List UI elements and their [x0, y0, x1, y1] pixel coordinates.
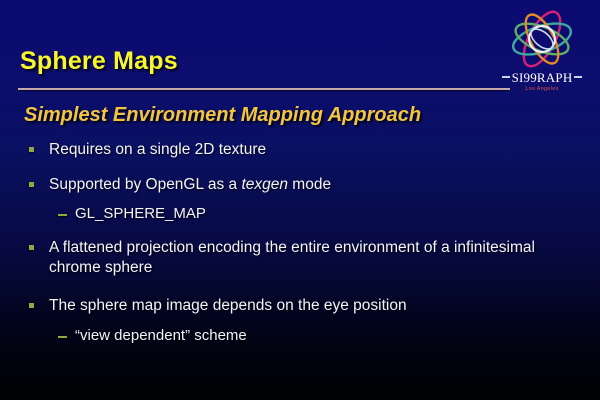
sub-list-item: “view dependent” scheme	[58, 326, 575, 346]
logo-wordmark: SI99RAPH	[490, 70, 594, 86]
list-item-text-before: Supported by OpenGL as a	[49, 176, 241, 193]
sub-list-item-label: “view dependent” scheme	[75, 326, 575, 346]
logo-dash-right-icon	[574, 76, 582, 78]
slide-canvas: Sphere Maps Simplest Environment Mapping…	[0, 0, 600, 400]
list-item-text-after: mode	[288, 176, 331, 193]
sub-list-item: GL_SPHERE_MAP	[58, 204, 575, 224]
bullet-dot-icon	[27, 238, 49, 250]
sub-list-item-label: GL_SPHERE_MAP	[75, 204, 575, 224]
slide-subtitle: Simplest Environment Mapping Approach	[24, 104, 421, 127]
logo-dash-left-icon	[502, 76, 510, 78]
list-item-label: Requires on a single 2D texture	[49, 140, 554, 161]
logo-ring-magenta	[516, 8, 567, 72]
bullet-dot-icon	[27, 296, 49, 308]
list-item-label: A flattened projection encoding the enti…	[49, 238, 554, 279]
bullet-list: Requires on a single 2D texture Supporte…	[27, 140, 575, 354]
logo-ring-orange	[519, 10, 565, 68]
title-divider	[18, 88, 510, 90]
list-item-emphasis: texgen	[241, 176, 288, 193]
list-item: Supported by OpenGL as a texgen mode	[27, 175, 575, 196]
bullet-dot-icon	[27, 140, 49, 152]
list-item: A flattened projection encoding the enti…	[27, 238, 575, 279]
bullet-dot-icon	[27, 175, 49, 187]
siggraph-logo: SI99RAPH Los Angeles	[490, 8, 594, 104]
list-item-label: Supported by OpenGL as a texgen mode	[49, 175, 554, 196]
page-title: Sphere Maps	[20, 47, 178, 76]
bullet-dash-icon	[58, 326, 75, 338]
logo-wordmark-text: SI99RAPH	[512, 70, 573, 85]
list-item: Requires on a single 2D texture	[27, 140, 575, 161]
logo-city-label: Los Angeles	[490, 86, 594, 92]
list-item: The sphere map image depends on the eye …	[27, 296, 575, 317]
list-item-label: The sphere map image depends on the eye …	[49, 296, 554, 317]
bullet-dash-icon	[58, 204, 75, 216]
